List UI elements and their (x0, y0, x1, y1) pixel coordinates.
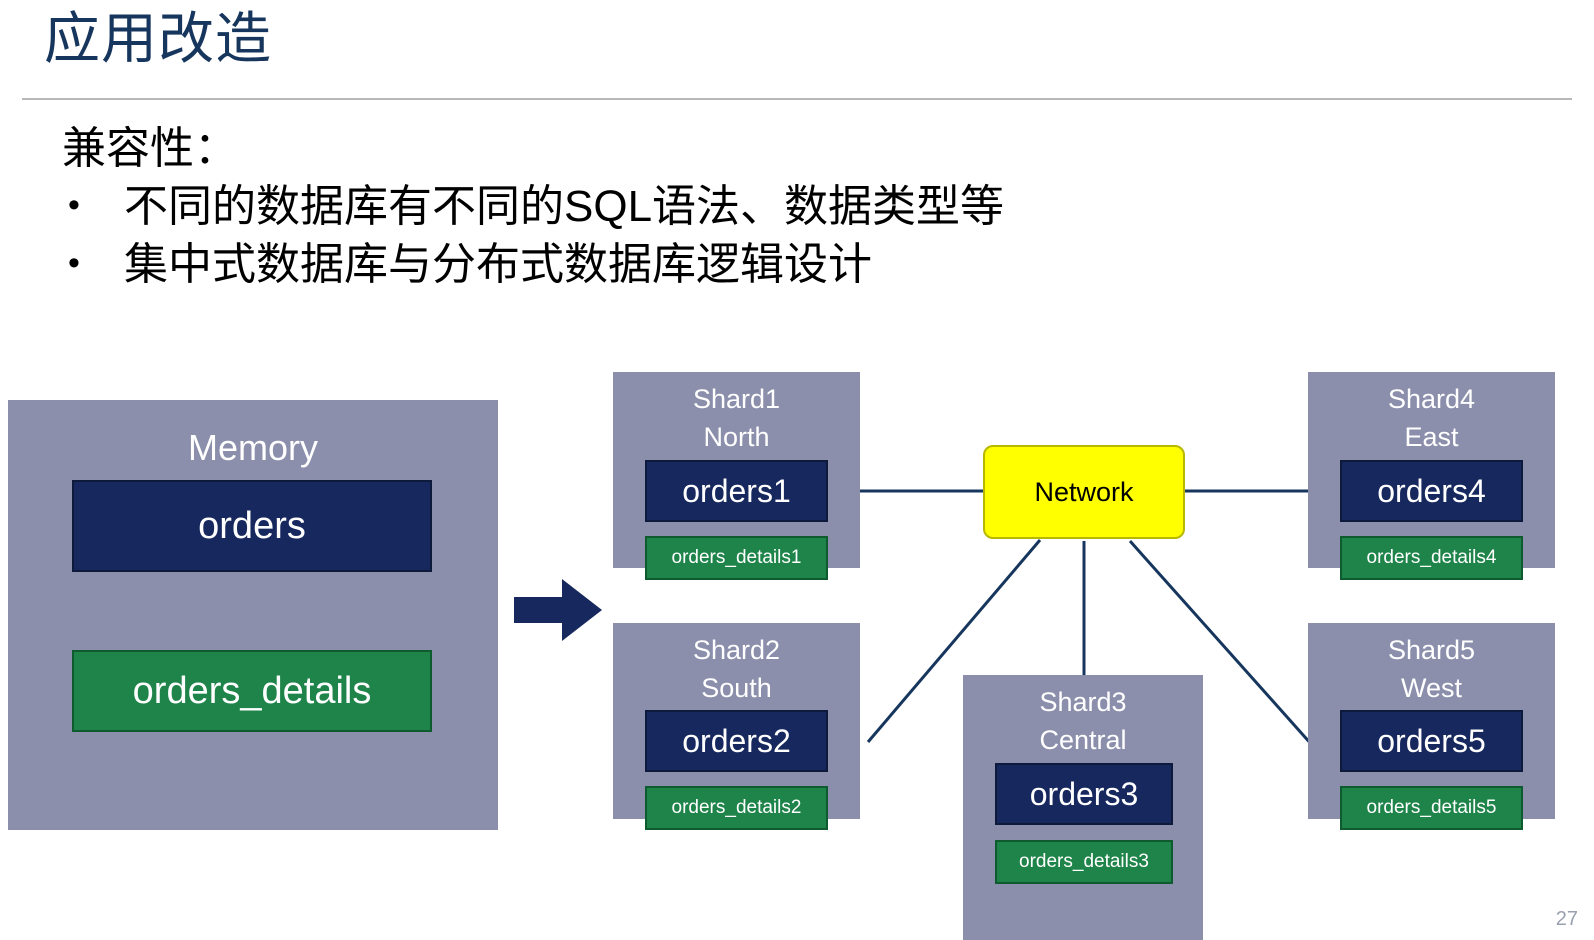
title-divider (22, 98, 1572, 100)
slide-body: 兼容性： • 不同的数据库有不同的SQL语法、数据类型等 • 集中式数据库与分布… (62, 120, 1462, 294)
shard3-orders-table: orders3 (995, 763, 1173, 825)
memory-panel-label: Memory (8, 400, 498, 473)
shard1-orders-table: orders1 (645, 460, 828, 522)
right-arrow-icon (514, 575, 604, 645)
shard5-orders-table: orders5 (1340, 710, 1523, 772)
shard2-label: Shard2 South (613, 623, 860, 708)
bullet-text-1: 不同的数据库有不同的SQL语法、数据类型等 (124, 178, 1004, 236)
body-heading: 兼容性： (62, 120, 1462, 178)
shard2-orders-table: orders2 (645, 710, 828, 772)
bullet-marker-icon: • (62, 236, 124, 290)
bullet-item-2: • 集中式数据库与分布式数据库逻辑设计 (62, 236, 1462, 294)
shard5-label: Shard5 West (1308, 623, 1555, 708)
shard1-details-table: orders_details1 (645, 536, 828, 580)
memory-orders-table: orders (72, 480, 432, 572)
memory-orders-details-table: orders_details (72, 650, 432, 732)
bullet-item-1: • 不同的数据库有不同的SQL语法、数据类型等 (62, 178, 1462, 236)
shard4-orders-table: orders4 (1340, 460, 1523, 522)
network-node: Network (983, 445, 1185, 539)
page-number: 27 (1556, 908, 1578, 931)
shard4-label: Shard4 East (1308, 372, 1555, 457)
architecture-diagram: Memory orders orders_details Shard1 Nort… (0, 360, 1594, 940)
shard1-label: Shard1 North (613, 372, 860, 457)
memory-panel: Memory (8, 400, 498, 830)
shard2-details-table: orders_details2 (645, 786, 828, 830)
shard4-details-table: orders_details4 (1340, 536, 1523, 580)
shard5-details-table: orders_details5 (1340, 786, 1523, 830)
shard3-label: Shard3 Central (963, 675, 1203, 760)
bullet-text-2: 集中式数据库与分布式数据库逻辑设计 (124, 236, 872, 294)
page-title: 应用改造 (44, 8, 272, 70)
shard3-details-table: orders_details3 (995, 840, 1173, 884)
bullet-marker-icon: • (62, 178, 124, 232)
